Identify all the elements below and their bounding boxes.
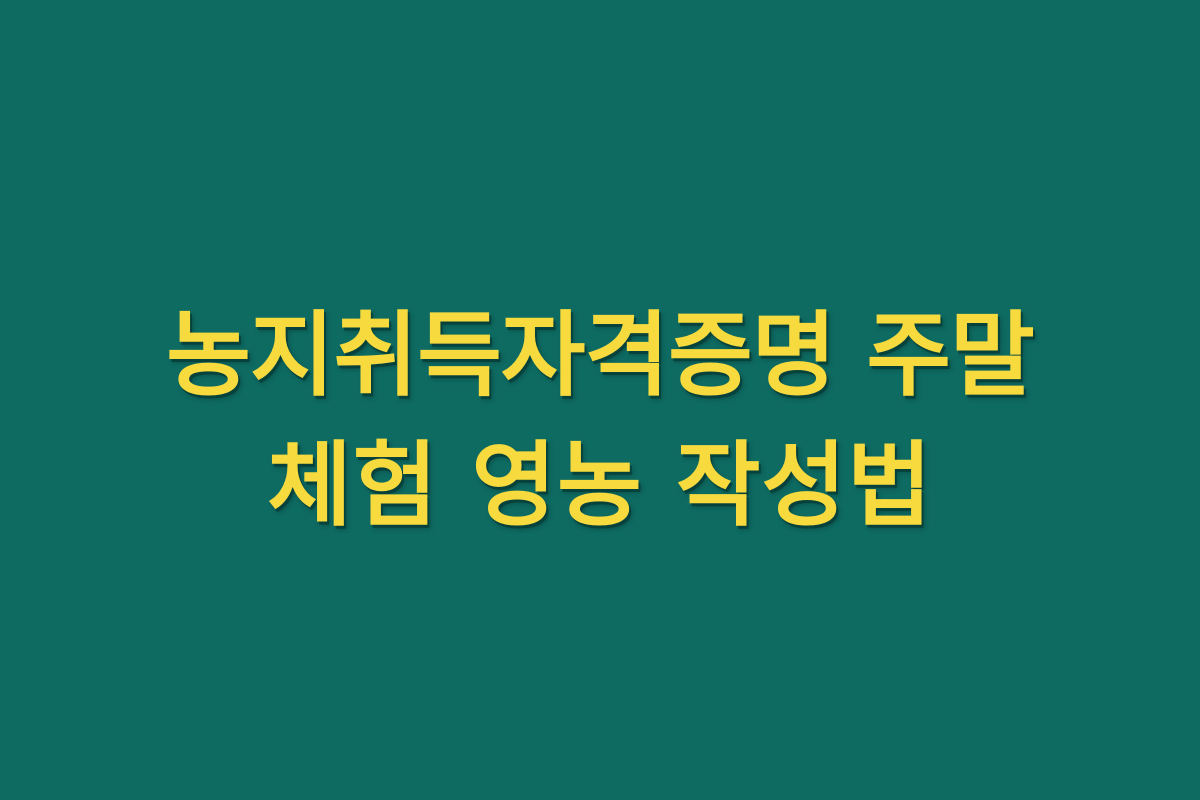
title-card: 농지취득자격증명 주말 체험 영농 작성법: [0, 0, 1200, 800]
headline-line-1: 농지취득자격증명 주말: [0, 291, 1200, 421]
headline-line-2: 체험 영농 작성법: [0, 421, 1200, 551]
headline-block: 농지취득자격증명 주말 체험 영농 작성법: [0, 291, 1200, 551]
